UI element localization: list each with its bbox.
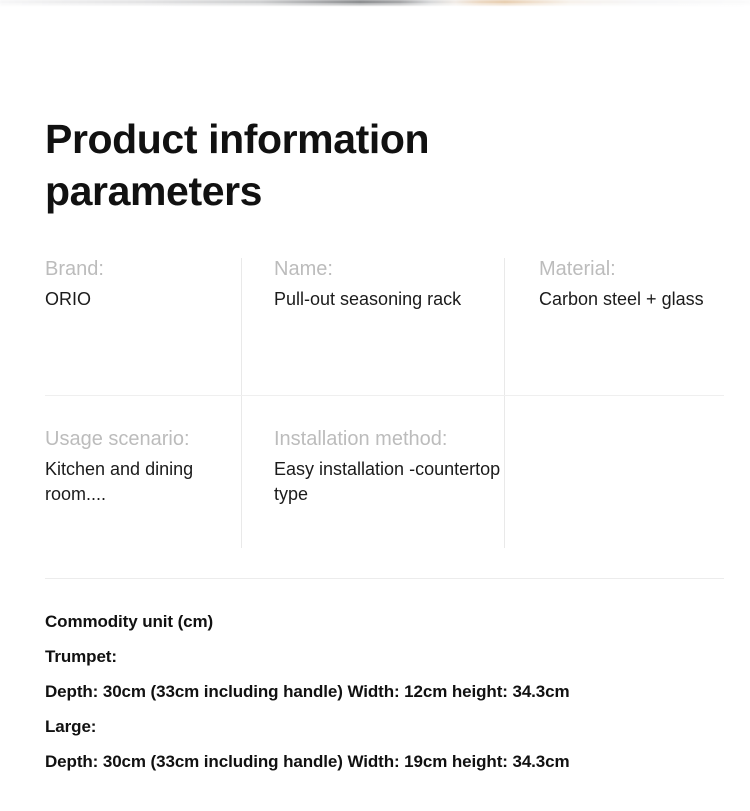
parameter-row: Brand: ORIO Name: Pull-out seasoning rac… <box>45 256 724 395</box>
page-title: Product information parameters <box>45 113 565 217</box>
size-label-large: Large: <box>45 709 735 744</box>
parameter-label: Material: <box>539 256 710 283</box>
parameter-label: Installation method: <box>274 426 505 453</box>
parameter-value: Easy installation -countertop type <box>274 457 505 507</box>
parameter-cell-name: Name: Pull-out seasoning rack <box>256 256 519 395</box>
parameter-table: Brand: ORIO Name: Pull-out seasoning rac… <box>45 256 724 548</box>
parameter-value: ORIO <box>45 287 242 312</box>
product-info-page: Product information parameters Brand: OR… <box>0 0 750 811</box>
product-photo-fade <box>0 3 750 9</box>
commodity-unit-heading: Commodity unit (cm) <box>45 604 735 639</box>
parameter-label: Usage scenario: <box>45 426 242 453</box>
parameter-cell-usage-scenario: Usage scenario: Kitchen and dining room.… <box>45 426 256 548</box>
parameter-value: Kitchen and dining room.... <box>45 457 242 507</box>
parameter-value: Pull-out seasoning rack <box>274 287 505 312</box>
parameter-value: Carbon steel + glass <box>539 287 710 312</box>
parameter-label: Name: <box>274 256 505 283</box>
size-label-trumpet: Trumpet: <box>45 639 735 674</box>
commodity-size-section: Commodity unit (cm) Trumpet: Depth: 30cm… <box>45 604 735 779</box>
parameter-cell-installation-method: Installation method: Easy installation -… <box>256 426 519 548</box>
row-divider <box>45 395 724 396</box>
size-dimensions-large: Depth: 30cm (33cm including handle) Widt… <box>45 744 735 779</box>
parameter-label: Brand: <box>45 256 242 283</box>
parameter-cell-empty <box>519 426 724 548</box>
size-dimensions-trumpet: Depth: 30cm (33cm including handle) Widt… <box>45 674 735 709</box>
parameter-cell-material: Material: Carbon steel + glass <box>519 256 724 395</box>
parameter-cell-brand: Brand: ORIO <box>45 256 256 395</box>
section-divider <box>45 578 724 579</box>
parameter-row: Usage scenario: Kitchen and dining room.… <box>45 426 724 548</box>
